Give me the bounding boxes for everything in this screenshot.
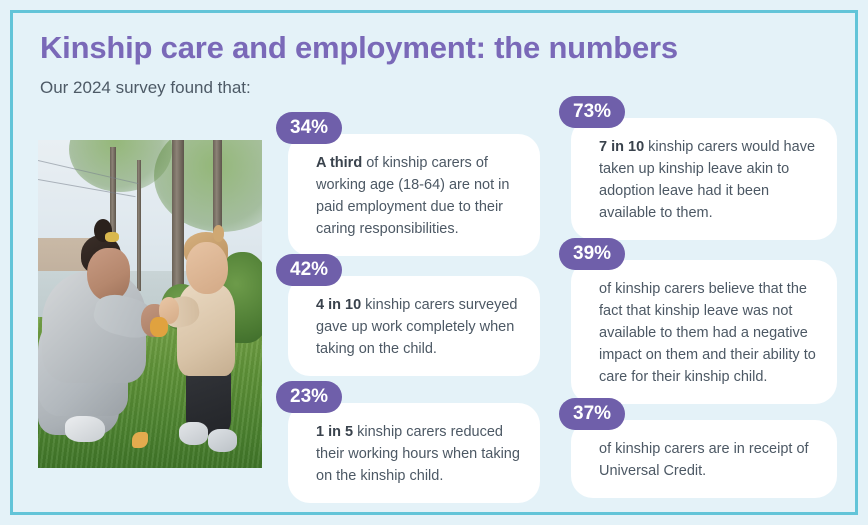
stat-card-body: 1 in 5 kinship carers reduced their work… — [288, 403, 540, 503]
stat-lead: 7 in 10 — [599, 139, 644, 155]
photo-child-shoe — [208, 429, 237, 452]
photo-tree-trunk — [172, 140, 183, 297]
stat-card-body: A third of kinship carers of working age… — [288, 134, 540, 256]
photo-tree-trunk — [137, 160, 141, 291]
photo-toy — [150, 317, 168, 337]
stat-badge: 42% — [276, 254, 342, 286]
stat-card-body: 4 in 10 kinship carers surveyed gave up … — [288, 276, 540, 376]
stat-text: of kinship carers believe that the fact … — [599, 281, 816, 385]
stat-badge: 23% — [276, 381, 342, 413]
kinship-photo — [38, 140, 262, 468]
stat-lead: A third — [316, 155, 362, 171]
stat-lead: 4 in 10 — [316, 297, 361, 313]
photo-adult-head — [87, 248, 130, 300]
stat-card-body: of kinship carers believe that the fact … — [571, 260, 837, 404]
photo-child-head — [186, 242, 229, 294]
stat-card-body: of kinship carers are in receipt of Univ… — [571, 420, 837, 498]
photo-fallen-leaf — [132, 432, 148, 448]
page-subtitle: Our 2024 survey found that: — [40, 78, 251, 98]
stat-lead: 1 in 5 — [316, 424, 353, 440]
photo-adult-hairband — [105, 232, 118, 242]
page-title: Kinship care and employment: the numbers — [40, 30, 800, 66]
stat-badge: 37% — [559, 398, 625, 430]
infographic-poster: Kinship care and employment: the numbers… — [0, 0, 868, 525]
photo-child-hair-tuft — [213, 225, 224, 241]
photo-adult-shoe — [65, 416, 105, 442]
stat-badge: 73% — [559, 96, 625, 128]
stat-card-body: 7 in 10 kinship carers would have taken … — [571, 118, 837, 240]
stat-badge: 34% — [276, 112, 342, 144]
photo-child-shoe — [179, 422, 208, 445]
stat-text: of kinship carers are in receipt of Univ… — [599, 441, 809, 479]
stat-badge: 39% — [559, 238, 625, 270]
